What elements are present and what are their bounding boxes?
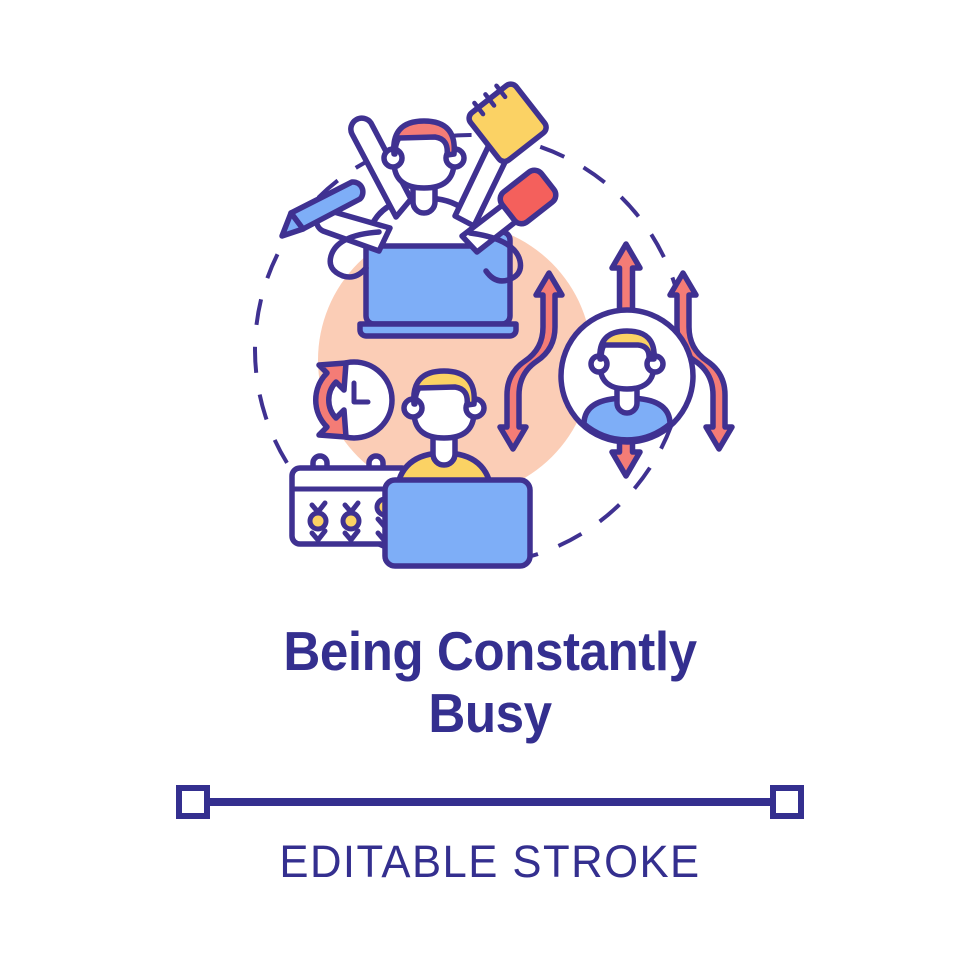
illustration-canvas — [0, 0, 980, 620]
page-title: Being Constantly Busy — [34, 620, 945, 744]
desk-monitor — [385, 480, 530, 566]
notepad-body — [466, 81, 549, 164]
notepad-icon — [463, 77, 549, 165]
stroke-handle-right-icon — [773, 788, 801, 816]
concept-illustration-page: Being Constantly Busy EDITABLE STROKE — [0, 0, 980, 980]
avatar-circle — [561, 310, 693, 442]
clock-refresh-icon — [316, 362, 392, 438]
editable-stroke-block: EDITABLE STROKE — [0, 780, 980, 888]
concept-title-block: Being Constantly Busy — [0, 620, 980, 744]
editable-stroke-rule — [170, 780, 810, 824]
editable-stroke-label: EDITABLE STROKE — [15, 836, 966, 888]
page-title-line-2: Busy — [428, 682, 551, 744]
calendar-cell-1-0-dot — [310, 513, 326, 529]
illustration-svg — [0, 0, 980, 620]
stroke-handle-left-icon — [179, 788, 207, 816]
laptop-top-base — [360, 324, 516, 336]
page-title-line-1: Being Constantly — [283, 620, 696, 682]
calendar-cell-1-1-dot — [343, 513, 359, 529]
